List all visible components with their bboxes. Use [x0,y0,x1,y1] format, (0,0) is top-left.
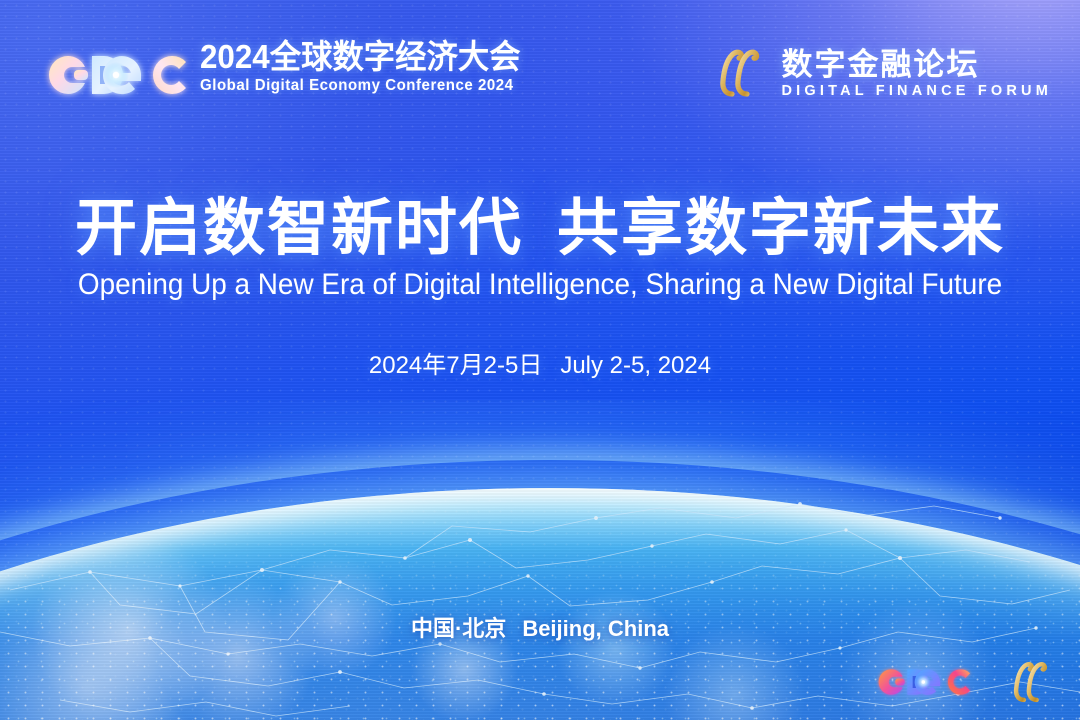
ff-monogram-icon [709,46,767,100]
conference-title-en: Global Digital Economy Conference 2024 [200,76,520,95]
headline-cn-part2: 共享数字新未来 [557,194,1005,263]
gdec-footer-logo-mark [866,661,978,703]
event-location-en: Beijing, China [522,616,669,641]
header-bar: 2024全球数字经济大会 Global Digital Economy Conf… [0,38,1080,110]
event-date: 2024年7月2-5日July 2-5, 2024 [0,350,1080,382]
digital-finance-forum-logo: 数字金融论坛 DIGITAL FINANCE FORUM [709,40,1052,106]
headline-en: Opening Up a New Era of Digital Intellig… [38,266,1042,304]
event-location-cn: 中国·北京 [411,616,506,641]
forum-title-cn: 数字金融论坛 [781,47,1052,82]
forum-title-en: DIGITAL FINANCE FORUM [781,82,1052,100]
headline-cn-part1: 开启数智新时代 [75,194,523,263]
dff-logo-text: 数字金融论坛 DIGITAL FINANCE FORUM [781,47,1052,100]
event-date-cn: 2024年7月2-5日 [369,352,542,379]
conference-backdrop: 2024全球数字经济大会 Global Digital Economy Conf… [0,0,1080,720]
gdec-logo-mark [30,44,198,106]
footer-logo-row [866,654,1054,710]
headline-cn: 开启数智新时代共享数字新未来 [0,192,1080,266]
gdec-logo-title: 2024全球数字经济大会 Global Digital Economy Conf… [200,38,530,95]
event-date-en: July 2-5, 2024 [560,352,711,379]
ff-footer-monogram-icon [1004,659,1054,705]
event-location: 中国·北京Beijing, China [0,614,1080,644]
conference-title-cn: 2024全球数字经济大会 [200,38,514,76]
